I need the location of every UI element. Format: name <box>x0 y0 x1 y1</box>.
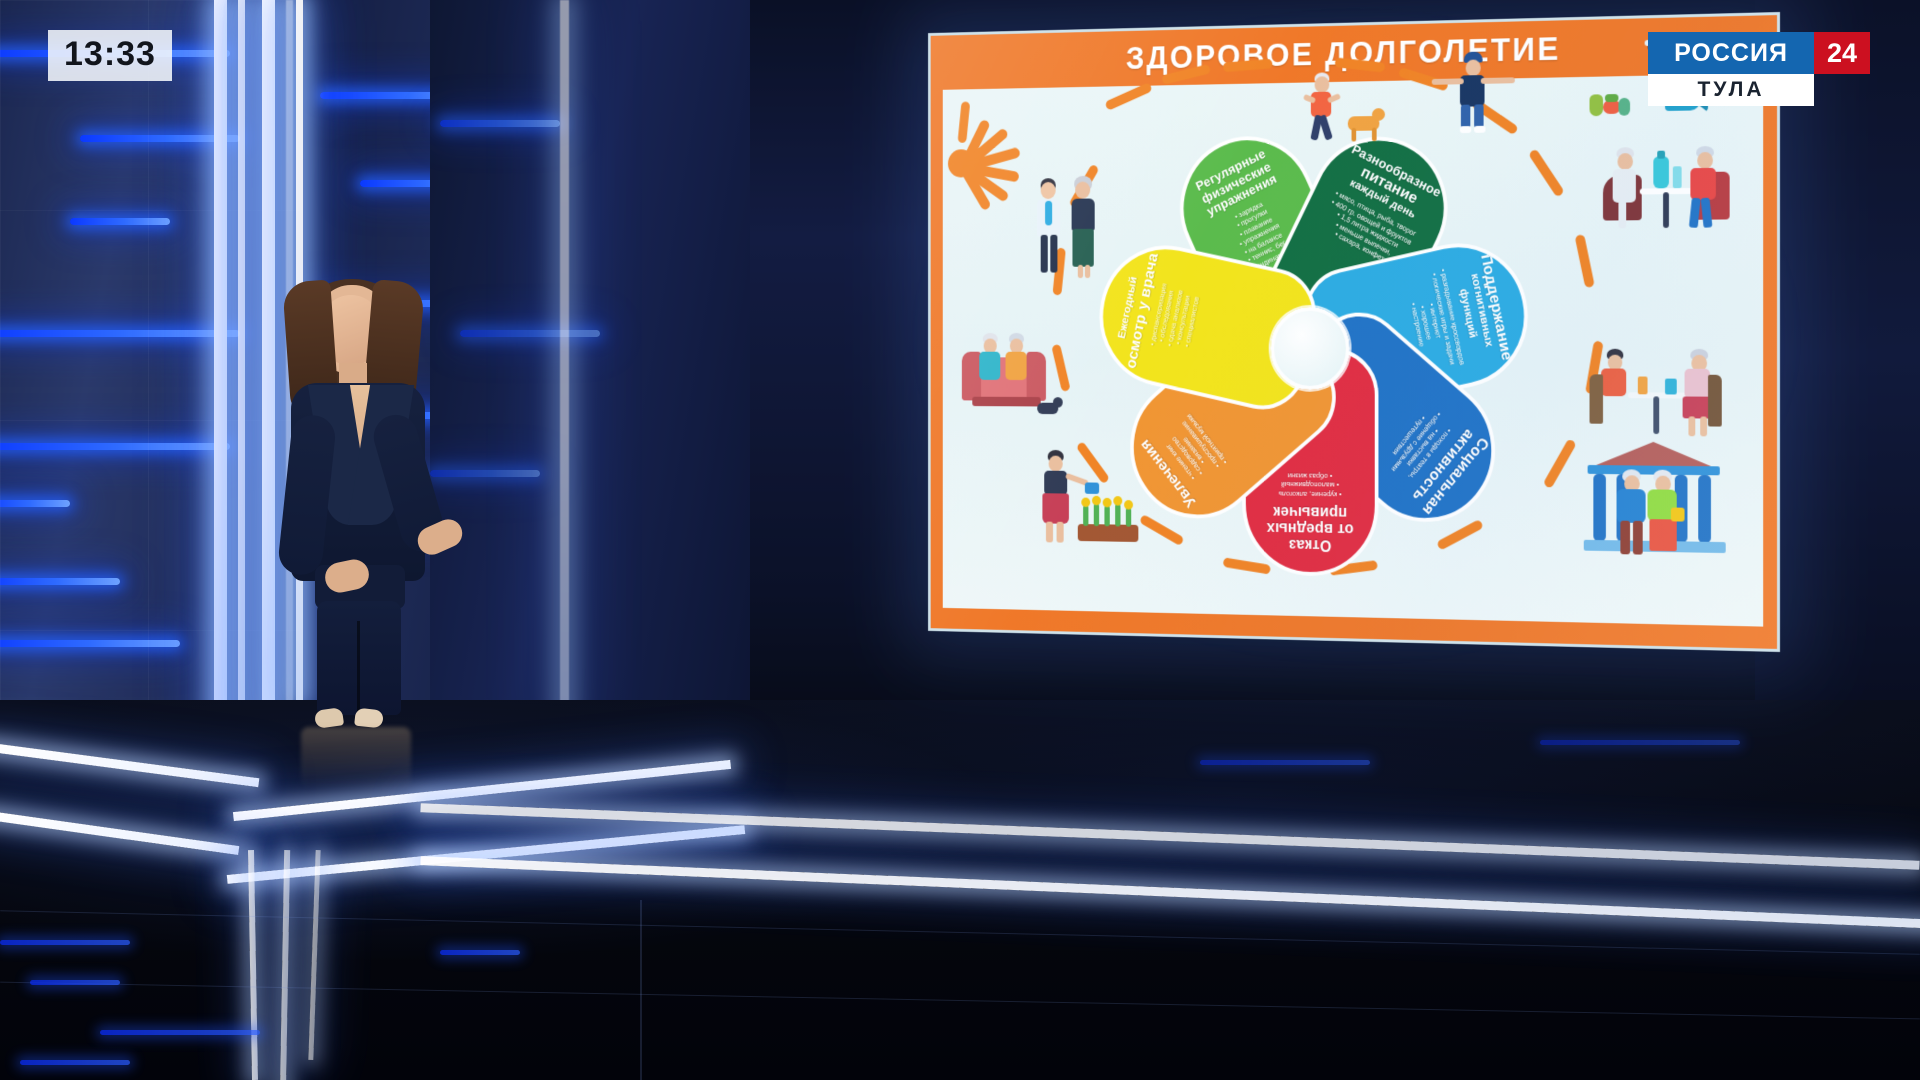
flower-diagram: Регулярные физические упражнения зарядка… <box>1085 103 1544 594</box>
petal-heading2: от вредных <box>1267 519 1354 537</box>
studio-led-column <box>238 0 245 760</box>
region-text: ТУЛА <box>1698 78 1765 102</box>
region-block: ТУЛА <box>1648 74 1814 106</box>
channel-number-block: 24 <box>1814 32 1870 74</box>
channel-name-text: РОССИЯ <box>1674 39 1788 68</box>
on-screen-clock: 13:33 <box>48 30 172 81</box>
petal-item-list: курение, алкоголь малоподвижный образ жи… <box>1278 471 1341 500</box>
flower-center-hub <box>1271 307 1350 390</box>
presenter <box>255 265 495 730</box>
petal-item-list: диспансеризация обследования сдача анали… <box>1148 282 1203 354</box>
elderly-couple-on-sofa-with-dog-icon <box>962 316 1067 427</box>
woman-gardening-icon <box>1035 448 1138 554</box>
projection-screen: ЗДОРОВОЕ ДОЛГОЛЕТИЕ <box>928 12 1780 652</box>
broadcast-frame: ЗДОРОВОЕ ДОЛГОЛЕТИЕ <box>0 0 1920 1080</box>
petal-heading: Отказ <box>1289 536 1332 553</box>
channel-number-text: 24 <box>1827 38 1857 69</box>
decorative-dash <box>1543 438 1577 489</box>
petal-heading3: привычек <box>1273 503 1347 520</box>
elderly-couple-at-museum-icon <box>1574 441 1731 568</box>
studio-led-column <box>214 0 227 760</box>
basketball-player-icon <box>1432 51 1519 141</box>
channel-name-block: РОССИЯ <box>1648 32 1814 74</box>
studio-led-column <box>560 0 569 720</box>
elderly-couple-at-table-icon <box>1590 122 1736 233</box>
people-playing-board-game-icon <box>1584 335 1730 445</box>
channel-logo: РОССИЯ 24 ТУЛА <box>1648 32 1870 106</box>
jogging-man-with-dog-icon <box>1304 71 1389 148</box>
poster-health-longevity: ЗДОРОВОЕ ДОЛГОЛЕТИЕ <box>931 15 1777 649</box>
decorative-dash <box>1575 234 1595 288</box>
doctor-and-patient-icon <box>1034 176 1105 281</box>
clock-time: 13:33 <box>64 35 156 73</box>
studio-floor <box>0 700 1920 1080</box>
